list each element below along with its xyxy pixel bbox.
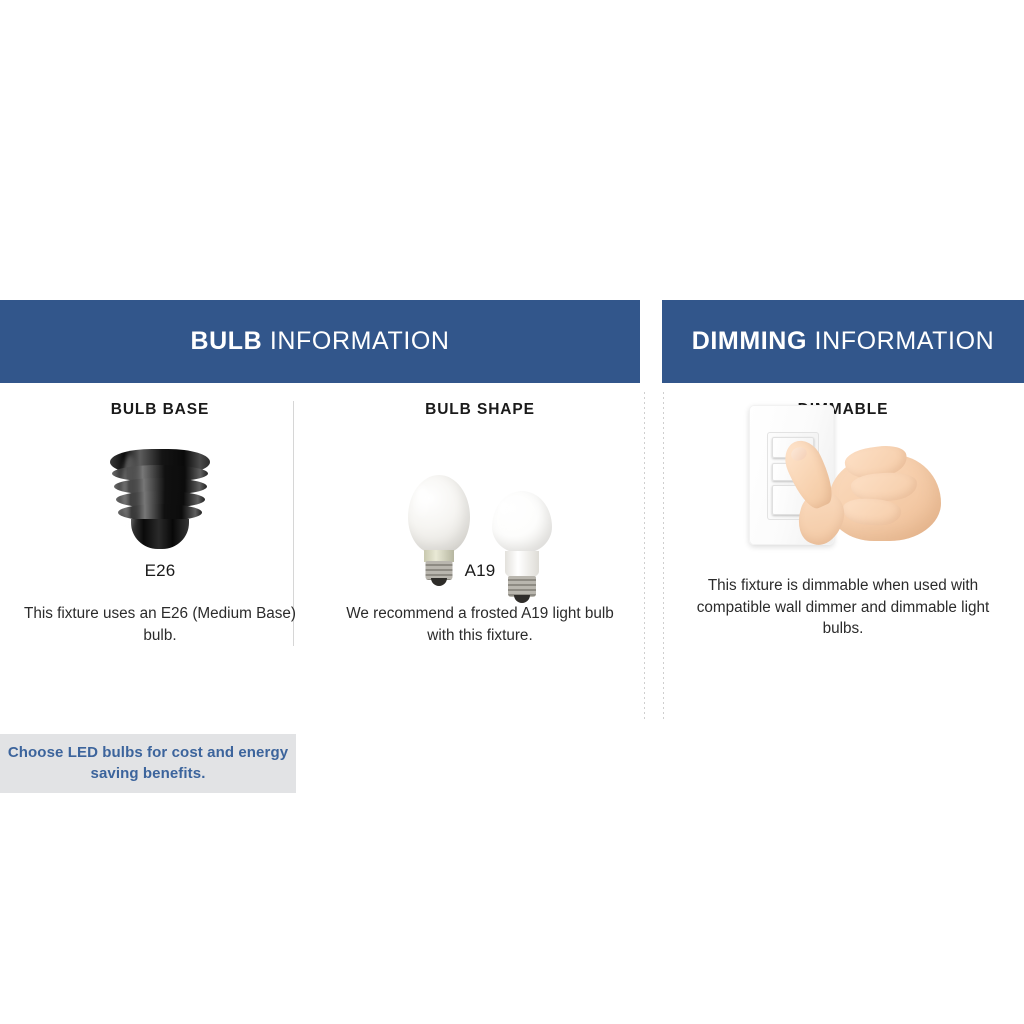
dimming-information-title-rest: INFORMATION bbox=[807, 327, 994, 355]
panel-separator-left-dotted bbox=[644, 392, 645, 720]
bulb-glass bbox=[408, 475, 470, 553]
dimming-columns: DIMMABLE bbox=[662, 401, 1024, 640]
bulb-columns: BULB BASE bbox=[0, 401, 640, 646]
bulb-tip-cap bbox=[431, 578, 447, 586]
bulb-glass bbox=[492, 491, 552, 553]
dimmable-description: This fixture is dimmable when used with … bbox=[674, 575, 1012, 640]
bulb-shape-spec: A19 bbox=[332, 561, 628, 581]
column-bulb-base: BULB BASE bbox=[0, 401, 320, 646]
bulb-screw-base bbox=[508, 576, 536, 597]
bulb-base-artwork bbox=[12, 423, 308, 553]
bulb-information-title-rest: INFORMATION bbox=[262, 327, 449, 355]
bulb-information-title: BULB INFORMATION bbox=[190, 327, 449, 356]
e26-screw-base-icon bbox=[106, 449, 214, 553]
column-dimmable: DIMMABLE bbox=[662, 401, 1024, 640]
led-a19-bulb-icon bbox=[492, 491, 552, 553]
led-savings-callout-text: Choose LED bulbs for cost and energy sav… bbox=[0, 743, 296, 784]
bulb-tip-cap bbox=[514, 595, 530, 603]
panel-dimming-information: DIMMING INFORMATION DIMMABLE bbox=[662, 300, 1024, 720]
bulb-base-spec: E26 bbox=[12, 561, 308, 581]
bulb-neck bbox=[505, 551, 539, 577]
bulb-base-description: This fixture uses an E26 (Medium Base) b… bbox=[12, 603, 308, 646]
dimmable-artwork bbox=[674, 423, 1012, 553]
bulb-shape-title: BULB SHAPE bbox=[332, 401, 628, 419]
led-savings-callout: Choose LED bulbs for cost and energy sav… bbox=[0, 734, 296, 793]
column-bulb-shape: BULB SHAPE bbox=[320, 401, 640, 646]
dimming-information-body: DIMMABLE bbox=[662, 383, 1024, 640]
dimming-information-title: DIMMING INFORMATION bbox=[692, 327, 995, 356]
dimming-information-header: DIMMING INFORMATION bbox=[662, 300, 1024, 383]
e26-highlight bbox=[122, 455, 138, 527]
panel-bulb-information: BULB INFORMATION BULB BASE bbox=[0, 300, 640, 720]
bulb-information-title-bold: BULB bbox=[190, 327, 262, 355]
bulb-information-header: BULB INFORMATION bbox=[0, 300, 640, 383]
e26-tip bbox=[131, 519, 189, 549]
bulb-shape-artwork bbox=[332, 423, 628, 553]
hand-index-fingernail bbox=[789, 445, 809, 463]
bulb-base-title: BULB BASE bbox=[12, 401, 308, 419]
bulb-information-body: BULB BASE bbox=[0, 383, 640, 646]
a19-bulb-pair-icon bbox=[408, 475, 552, 553]
product-info-block: BULB INFORMATION BULB BASE bbox=[0, 300, 1024, 720]
incandescent-a19-bulb-icon bbox=[408, 475, 470, 553]
hand-pressing-wall-dimmer-icon bbox=[743, 405, 943, 553]
hand-illustration bbox=[789, 433, 939, 549]
dimming-information-title-bold: DIMMING bbox=[692, 327, 807, 355]
bulb-shape-description: We recommend a frosted A19 light bulb wi… bbox=[332, 603, 628, 646]
